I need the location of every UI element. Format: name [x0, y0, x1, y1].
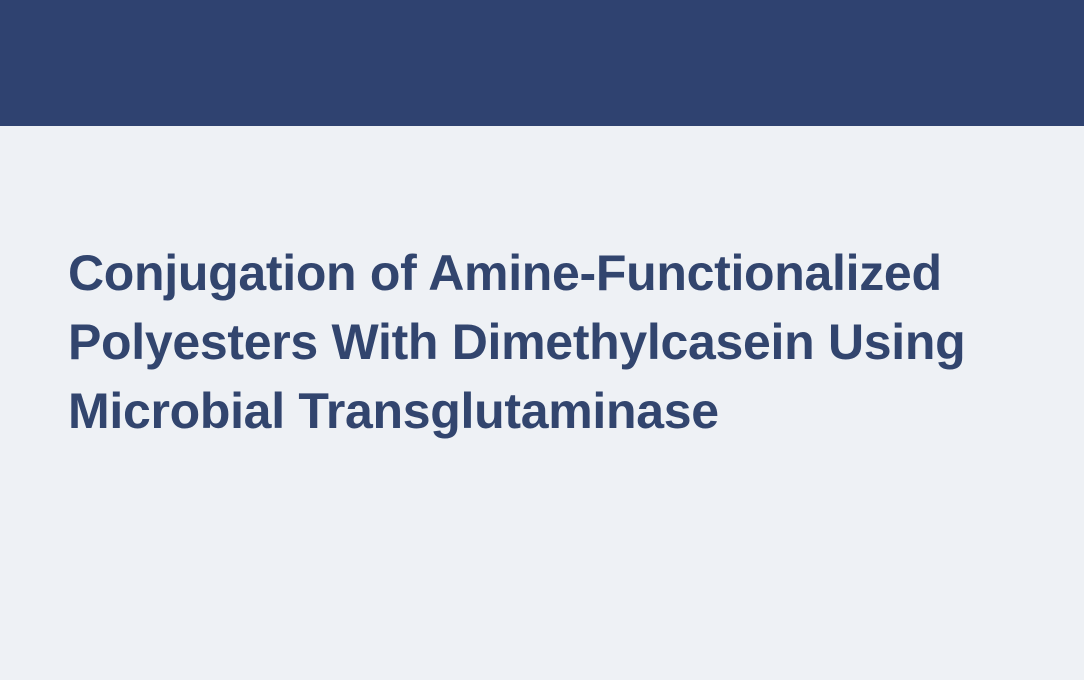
title-card-page: Conjugation of Amine-Functionalized Poly… [0, 0, 1084, 680]
article-title-line-3: Microbial Transglutaminase [68, 377, 1036, 446]
content-area: Conjugation of Amine-Functionalized Poly… [0, 126, 1084, 680]
article-title-line-1: Conjugation of Amine-Functionalized [68, 239, 1036, 308]
header-bar [0, 0, 1084, 126]
article-title: Conjugation of Amine-Functionalized Poly… [68, 239, 1036, 446]
article-title-line-2: Polyesters With Dimethylcasein Using [68, 308, 1036, 377]
